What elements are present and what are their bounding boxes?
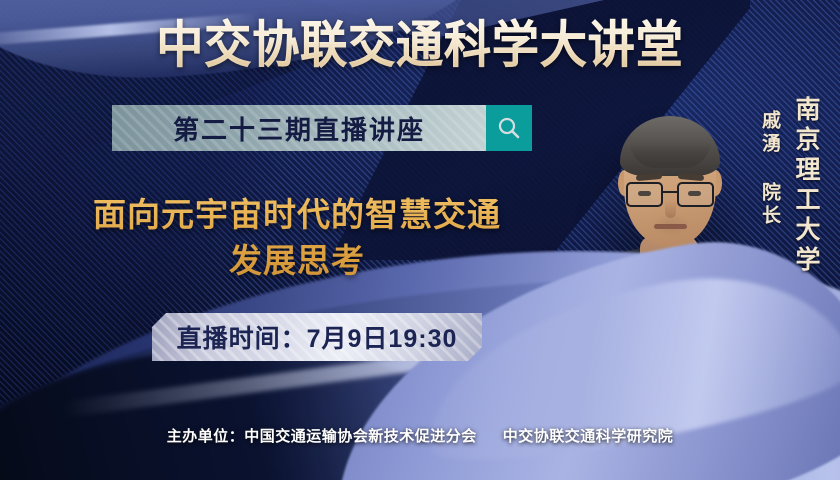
- search-icon[interactable]: [486, 105, 532, 151]
- footer-organizers: 主办单位：中国交通运输协会新技术促进分会中交协联交通科学研究院: [0, 425, 840, 446]
- portrait-mouth: [654, 224, 687, 229]
- speaker-affiliation: 南京理工大学: [788, 96, 824, 276]
- series-bar-label: 第二十三期直播讲座: [173, 110, 425, 147]
- live-time-label: 直播时间：7月9日19:30: [177, 319, 458, 355]
- footer-org-1: 中国交通运输协会新技术促进分会: [244, 428, 477, 445]
- lecture-title: 面向元宇宙时代的智慧交通 发展思考: [52, 192, 542, 284]
- series-bar: 第二十三期直播讲座: [112, 105, 532, 151]
- page-title: 中交协联交通科学大讲堂: [25, 16, 815, 74]
- live-time-badge: 直播时间：7月9日19:30: [152, 313, 482, 361]
- speaker-name-title: 戚湧 院长: [757, 110, 784, 228]
- live-lecture-poster: 中交协联交通科学大讲堂 第二十三期直播讲座 面向元宇宙时代的智慧交通 发展思考 …: [0, 0, 840, 480]
- series-bar-body: 第二十三期直播讲座: [112, 105, 486, 151]
- footer-org-2: 中交协联交通科学研究院: [503, 428, 674, 445]
- portrait-lens-right: [677, 182, 714, 207]
- footer-prefix: 主办单位：: [167, 428, 245, 445]
- lecture-title-line-2: 发展思考: [52, 238, 542, 284]
- portrait-lens-left: [626, 182, 663, 207]
- lecture-title-line-1: 面向元宇宙时代的智慧交通: [52, 192, 542, 238]
- portrait-glasses-bridge: [663, 191, 677, 193]
